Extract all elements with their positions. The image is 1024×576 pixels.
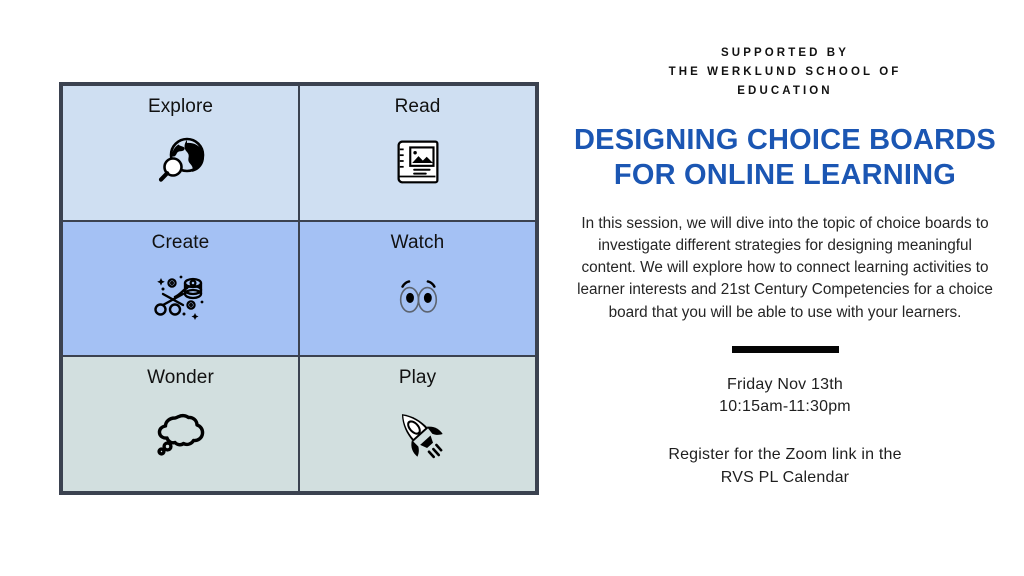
schedule-block: Friday Nov 13th 10:15am-11:30pm <box>565 374 1005 419</box>
choice-cell-label: Create <box>152 232 210 255</box>
choice-cell-read[interactable]: Read <box>299 85 536 221</box>
event-time: 10:15am-11:30pm <box>565 396 1005 419</box>
event-info-panel: SUPPORTED BY THE WERKLUND SCHOOL OF EDUC… <box>565 0 1005 576</box>
choice-cell-watch[interactable]: Watch <box>299 221 536 357</box>
choice-cell-wonder[interactable]: Wonder <box>62 356 299 492</box>
choice-cell-label: Read <box>395 96 441 119</box>
supported-by-text: SUPPORTED BY THE WERKLUND SCHOOL OF EDUC… <box>565 44 1005 101</box>
choice-cell-label: Watch <box>391 232 445 255</box>
registration-block: Register for the Zoom link in the RVS PL… <box>565 444 1005 489</box>
eyes-icon <box>384 262 452 330</box>
globe-magnifier-icon <box>147 127 215 195</box>
choice-cell-play[interactable]: Play <box>299 356 536 492</box>
choice-cell-label: Wonder <box>147 367 214 390</box>
divider <box>732 346 839 353</box>
choice-board-grid: Explore Read <box>59 82 539 495</box>
picture-book-icon <box>384 127 452 195</box>
choice-cell-create[interactable]: Create <box>62 221 299 357</box>
choice-cell-label: Play <box>399 367 436 390</box>
page-title: DESIGNING CHOICE BOARDS FOR ONLINE LEARN… <box>565 123 1005 193</box>
choice-cell-explore[interactable]: Explore <box>62 85 299 221</box>
event-date: Friday Nov 13th <box>565 374 1005 397</box>
choice-cell-label: Explore <box>148 96 213 119</box>
registration-line-1: Register for the Zoom link in the <box>565 444 1005 467</box>
rocket-icon <box>384 398 452 466</box>
event-description: In this session, we will dive into the t… <box>565 213 1005 324</box>
thought-cloud-icon <box>147 398 215 466</box>
registration-line-2: RVS PL Calendar <box>565 467 1005 490</box>
scissors-craft-icon <box>147 262 215 330</box>
